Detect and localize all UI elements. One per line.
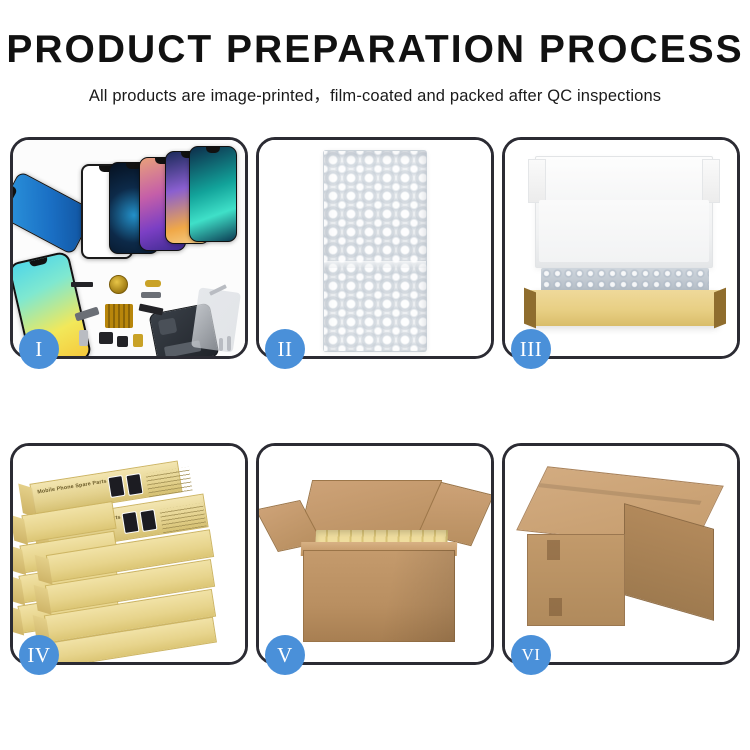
step-panel-2: II — [256, 137, 494, 359]
step-image-4: Mobile Phone Spare Parts Mobile Phone Sp… — [13, 446, 245, 662]
part-bracket-1 — [71, 282, 93, 287]
part-camera-module — [99, 332, 113, 344]
step-panel-5: V — [256, 443, 494, 665]
step-image-6 — [505, 446, 737, 662]
part-gold-connector — [145, 280, 161, 287]
speaker-coil-part — [109, 275, 128, 294]
inner-box-illustration — [505, 140, 737, 356]
step-panel-3: III — [502, 137, 740, 359]
kraft-box-tray — [531, 290, 719, 326]
box-label-screen-1b — [125, 473, 143, 496]
step-image-5 — [259, 446, 491, 662]
carton-shading — [303, 550, 455, 642]
box-label-screen-1a — [107, 475, 125, 498]
sealed-carton-illustration — [505, 446, 737, 662]
step-image-1 — [13, 140, 245, 356]
step-badge-5: V — [265, 635, 305, 675]
infographic-page: PRODUCT PREPARATION PROCESS All products… — [0, 0, 750, 750]
step-badge-3: III — [511, 329, 551, 369]
part-battery-clip — [79, 330, 88, 346]
header: PRODUCT PREPARATION PROCESS All products… — [0, 0, 750, 106]
step-badge-2: II — [265, 329, 305, 369]
step-panel-6: VI — [502, 443, 740, 665]
tool-kit — [191, 287, 241, 352]
sealed-carton-tape-lower — [549, 598, 562, 616]
bubble-wrap-strip — [323, 150, 427, 352]
step-badge-6: VI — [511, 635, 551, 675]
step-image-2 — [259, 140, 491, 356]
box-label-screen-2b — [139, 509, 157, 532]
step-image-3 — [505, 140, 737, 356]
part-vibrator — [117, 336, 128, 347]
step-panel-1: I — [10, 137, 248, 359]
box-stack-illustration: Mobile Phone Spare Parts Mobile Phone Sp… — [13, 446, 245, 662]
process-steps-grid: I II III — [10, 137, 740, 665]
part-gold-chip — [133, 334, 143, 347]
box-label-screen-2a — [121, 511, 139, 534]
chip-array-part — [105, 304, 133, 328]
sealed-carton-front-face — [527, 534, 625, 626]
page-subtitle: All products are image-printed，film-coat… — [0, 82, 750, 106]
part-flex-cable-1 — [141, 292, 161, 298]
part-screwdriver-2 — [227, 336, 231, 351]
phones-and-parts-illustration — [13, 140, 245, 356]
sealed-carton-tape-upper — [547, 540, 560, 560]
bubble-wrap-illustration — [259, 140, 491, 356]
step-badge-1: I — [19, 329, 59, 369]
part-screwdriver-1 — [219, 338, 223, 351]
page-title: PRODUCT PREPARATION PROCESS — [0, 30, 750, 71]
step-badge-4: IV — [19, 635, 59, 675]
box-foam-insert — [539, 200, 709, 262]
open-carton-illustration — [259, 446, 491, 662]
phone-teal-display — [189, 146, 237, 242]
step-panel-4: Mobile Phone Spare Parts Mobile Phone Sp… — [10, 443, 248, 665]
